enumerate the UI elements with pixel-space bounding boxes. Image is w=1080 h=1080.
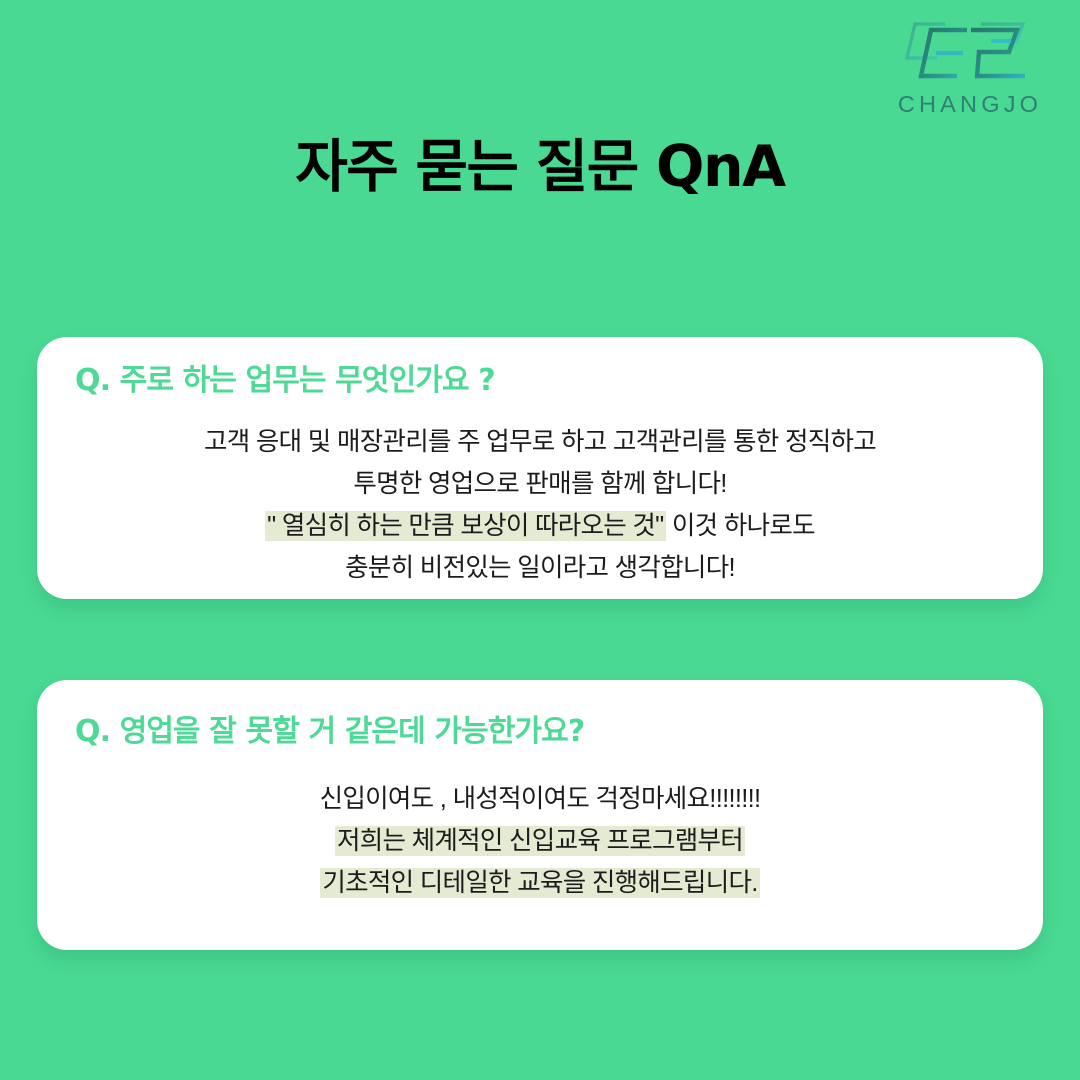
answer-text-plain: 고객 응대 및 매장관리를 주 업무로 하고 고객관리를 통한 정직하고	[204, 428, 876, 456]
answer-line: 신입이여도 , 내성적이여도 걱정마세요!!!!!!!!	[37, 778, 1043, 820]
answer-line: 충분히 비전있는 일이라고 생각합니다!	[37, 547, 1043, 589]
answer-text-plain: 투명한 영업으로 판매를 함께 합니다!	[353, 470, 726, 498]
answer-line: 투명한 영업으로 판매를 함께 합니다!	[37, 463, 1043, 505]
answer-block: 신입이여도 , 내성적이여도 걱정마세요!!!!!!!! 저희는 체계적인 신입…	[37, 778, 1043, 904]
question-text: Q. 주로 하는 업무는 무엇인가요 ?	[75, 337, 1043, 399]
answer-block: 고객 응대 및 매장관리를 주 업무로 하고 고객관리를 통한 정직하고 투명한…	[37, 421, 1043, 589]
answer-line: 기초적인 디테일한 교육을 진행해드립니다.	[37, 862, 1043, 904]
answer-text-plain: 충분히 비전있는 일이라고 생각합니다!	[345, 554, 735, 582]
answer-text-highlighted: 기초적인 디테일한 교육을 진행해드립니다.	[320, 868, 759, 898]
answer-text-plain: 이것 하나로도	[666, 512, 815, 540]
answer-text-highlighted: 저희는 체계적인 신입교육 프로그램부터	[335, 826, 745, 856]
answer-line: 저희는 체계적인 신입교육 프로그램부터	[37, 820, 1043, 862]
brand-logo: CHANGJO	[880, 18, 1060, 124]
question-text: Q. 영업을 잘 못할 거 같은데 가능한가요?	[75, 680, 1043, 750]
page-title: 자주 묻는 질문 QnA	[0, 135, 1080, 201]
brand-wordmark: CHANGJO	[880, 93, 1060, 117]
qna-infographic-page: { "brand": { "logo_icon": "changjo-c2-lo…	[0, 0, 1080, 1080]
changjo-c2-logo-icon	[905, 18, 1035, 90]
qna-card: Q. 주로 하는 업무는 무엇인가요 ? 고객 응대 및 매장관리를 주 업무로…	[37, 337, 1043, 599]
answer-line: 고객 응대 및 매장관리를 주 업무로 하고 고객관리를 통한 정직하고	[37, 421, 1043, 463]
answer-text-highlighted: " 열심히 하는 만큼 보상이 따라오는 것"	[265, 511, 665, 541]
qna-card: Q. 영업을 잘 못할 거 같은데 가능한가요? 신입이여도 , 내성적이여도 …	[37, 680, 1043, 950]
answer-text-plain: 신입이여도 , 내성적이여도 걱정마세요!!!!!!!!	[320, 785, 761, 813]
answer-line: " 열심히 하는 만큼 보상이 따라오는 것" 이것 하나로도	[37, 505, 1043, 547]
